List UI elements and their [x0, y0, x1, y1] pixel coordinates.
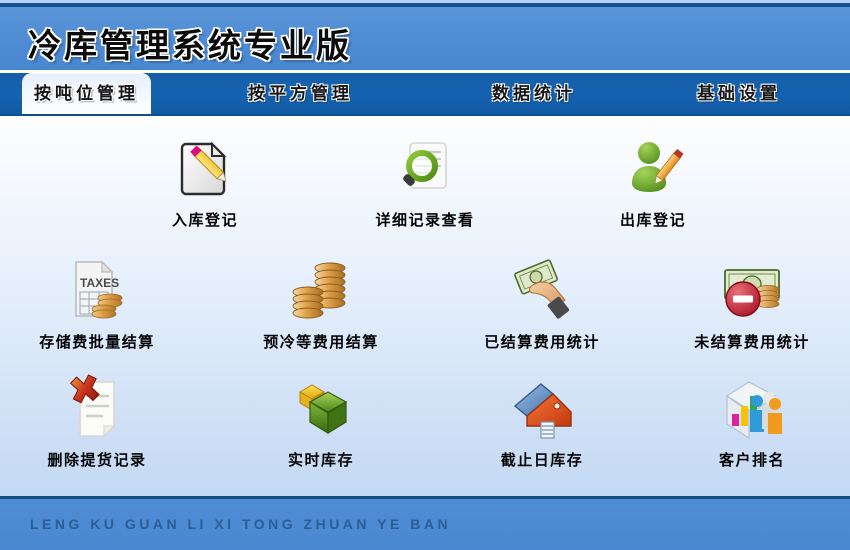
main-content-area: 入库登记 [0, 116, 850, 498]
menu-item-label: 已结算费用统计 [467, 331, 617, 352]
menu-item-realtime-inventory[interactable]: 实时库存 [246, 374, 396, 470]
tab-basic-settings[interactable]: 基础设置 [697, 73, 781, 116]
svg-text:TAXES: TAXES [80, 276, 119, 290]
menu-item-detail-record-view[interactable]: 详细记录查看 [350, 134, 500, 230]
menu-item-label: 截止日库存 [467, 449, 617, 470]
person-pencil-icon [578, 134, 728, 204]
menu-item-label: 删除提货记录 [22, 449, 172, 470]
tab-data-statistics[interactable]: 数据统计 [492, 73, 576, 116]
hand-cash-icon [467, 256, 617, 326]
tab-tonnage-management[interactable]: 按吨位管理 [22, 73, 151, 116]
people-chart-icon [677, 374, 827, 444]
document-delete-icon [22, 374, 172, 444]
document-magnifier-icon [350, 134, 500, 204]
green-box-icon [246, 374, 396, 444]
banknote-deny-icon [677, 256, 827, 326]
menu-item-cutoff-date-inventory[interactable]: 截止日库存 [467, 374, 617, 470]
menu-item-settled-fee-statistics[interactable]: 已结算费用统计 [467, 256, 617, 352]
menu-item-label: 客户排名 [677, 449, 827, 470]
menu-item-label: 预冷等费用结算 [246, 331, 396, 352]
menu-item-customer-ranking[interactable]: 客户排名 [677, 374, 827, 470]
menu-item-inbound-registration[interactable]: 入库登记 [130, 134, 280, 230]
menu-item-label: 出库登记 [578, 209, 728, 230]
menu-item-unsettled-fee-statistics[interactable]: 未结算费用统计 [677, 256, 827, 352]
title-bar: 冷库管理系统专业版 [0, 7, 850, 70]
application-window: 冷库管理系统专业版 按吨位管理 按平方管理 数据统计 基础设置 [0, 0, 850, 550]
menu-item-label: 实时库存 [246, 449, 396, 470]
coin-stacks-icon [246, 256, 396, 326]
menu-item-label: 未结算费用统计 [677, 331, 827, 352]
menu-item-label: 入库登记 [130, 209, 280, 230]
document-pencil-icon [130, 134, 280, 204]
menu-item-label: 存储费批量结算 [22, 331, 172, 352]
menu-item-delete-pickup-record[interactable]: 删除提货记录 [22, 374, 172, 470]
menu-item-label: 详细记录查看 [350, 209, 500, 230]
footer-pinyin-text: LENG KU GUAN LI XI TONG ZHUAN YE BAN [30, 516, 451, 532]
taxes-document-coins-icon: TAXES [22, 256, 172, 326]
footer-bar: LENG KU GUAN LI XI TONG ZHUAN YE BAN [0, 499, 850, 550]
menu-item-precooling-fee-settlement[interactable]: 预冷等费用结算 [246, 256, 396, 352]
tab-bar: 按吨位管理 按平方管理 数据统计 基础设置 [0, 73, 850, 116]
page-title: 冷库管理系统专业版 [28, 19, 352, 67]
warehouse-house-icon [467, 374, 617, 444]
menu-item-storage-fee-batch-settlement[interactable]: TAXES 存储费批量结算 [22, 256, 172, 352]
menu-item-outbound-registration[interactable]: 出库登记 [578, 134, 728, 230]
tab-square-meter-management[interactable]: 按平方管理 [248, 73, 353, 116]
